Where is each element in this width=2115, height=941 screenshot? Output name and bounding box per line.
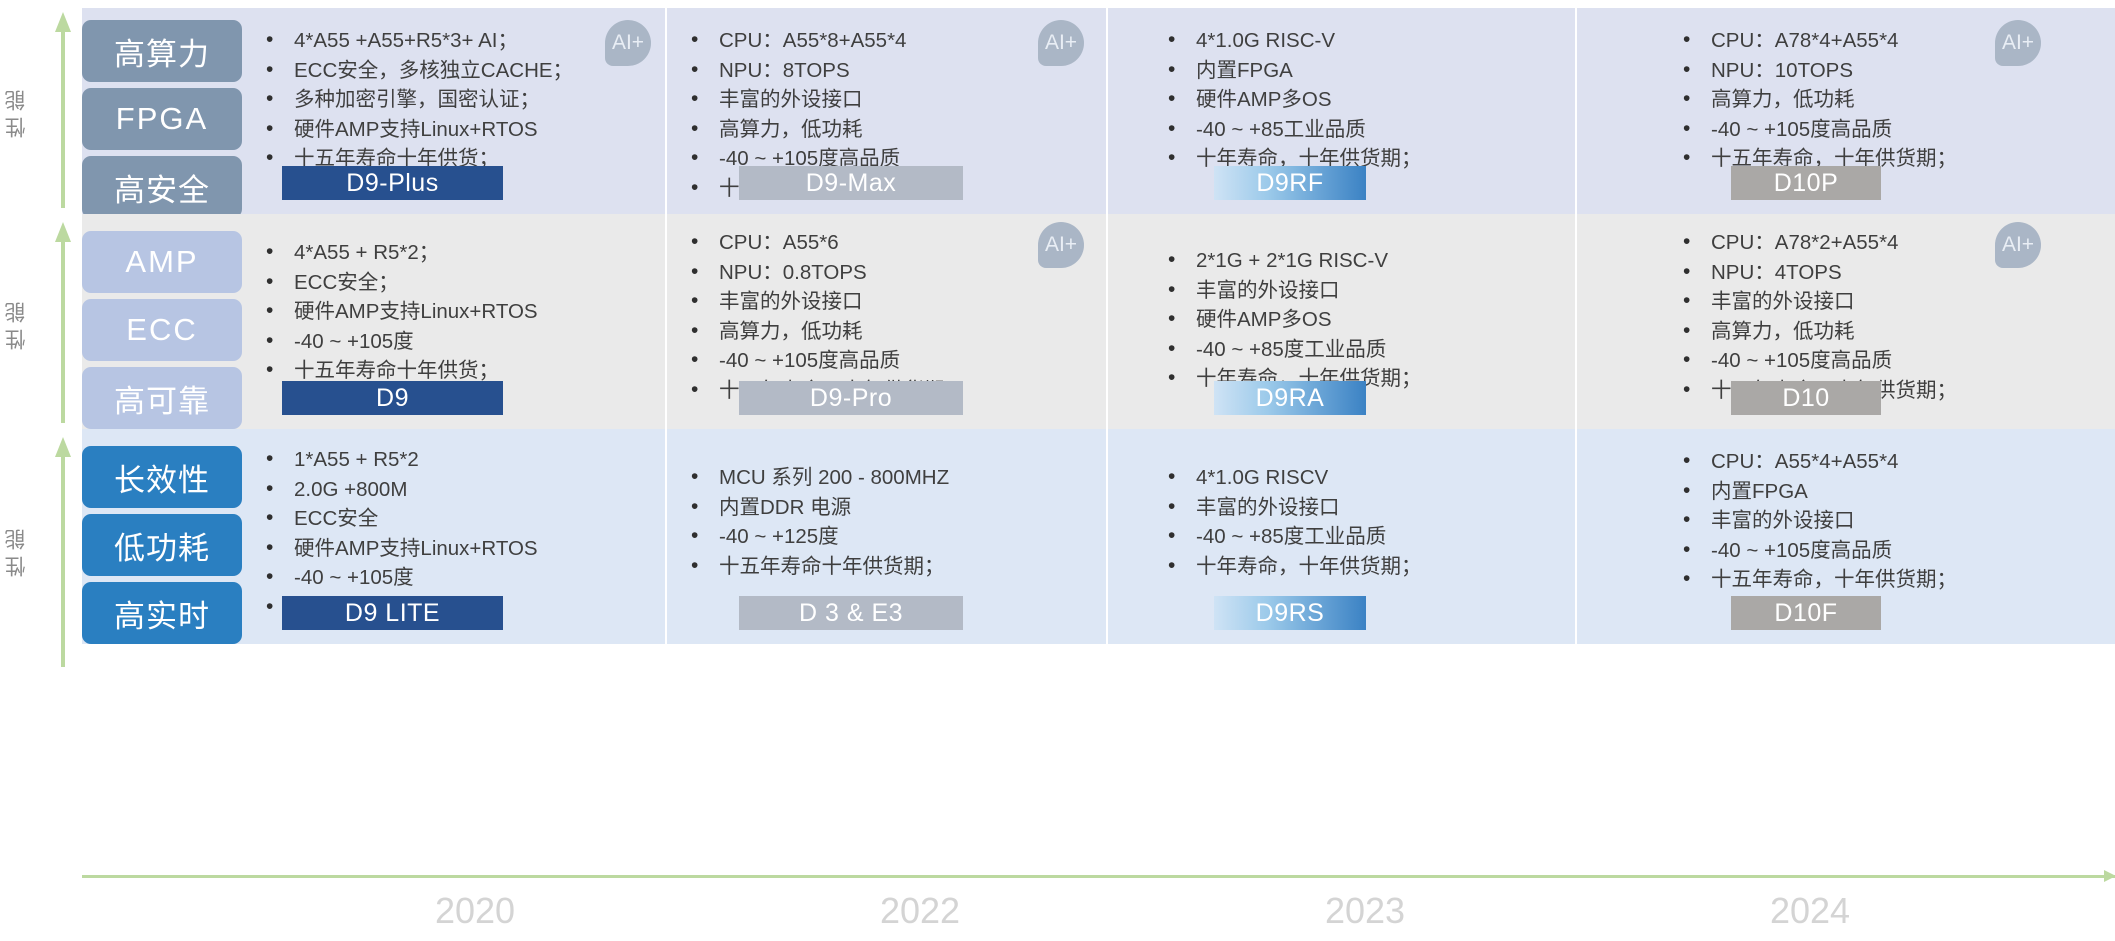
feature-item: -40 ~ +105度高品质 xyxy=(1677,115,2105,145)
pillar-tag[interactable]: 高实时 xyxy=(82,582,242,644)
pillar-label: FPGA xyxy=(116,101,208,137)
pillar-label: AMP xyxy=(125,244,198,280)
product-chip[interactable]: D9-Plus xyxy=(282,166,503,200)
feature-list: CPU：A78*2+A55*4 NPU：4TOPS 丰富的外设接口 高算力，低功… xyxy=(1677,228,2105,405)
up-arrow-icon xyxy=(52,8,74,214)
product-cell[interactable]: CPU：A55*4+A55*4 内置FPGA 丰富的外设接口 -40 ~ +10… xyxy=(1575,429,2115,644)
product-name: D9-Plus xyxy=(346,169,438,197)
pillar-column-row-2: AMP ECC 高可靠 xyxy=(82,214,242,429)
ai-plus-badge: AI+ xyxy=(1038,20,1084,66)
feature-item: 内置DDR 电源 xyxy=(685,493,1096,523)
product-cell[interactable]: MCU 系列 200 - 800MHZ 内置DDR 电源 -40 ~ +125度… xyxy=(665,429,1106,644)
feature-item: 硬件AMP支持Linux+RTOS xyxy=(260,297,655,327)
feature-item: 高算力，低功耗 xyxy=(1677,317,2105,347)
pillar-tag[interactable]: 高算力 xyxy=(82,20,242,82)
cells-row-1: 4*A55 +A55+R5*3+ AI； ECC安全，多核独立CACHE； 多种… xyxy=(242,8,2115,214)
tier-row-realtime: 长效性 低功耗 高实时 1*A55 + R5*2 2.0G +800M ECC安… xyxy=(82,429,2115,644)
product-chip[interactable]: D9RS xyxy=(1214,596,1366,630)
pillar-label: 高实时 xyxy=(114,591,210,636)
feature-item: 十年寿命，十年供货期； xyxy=(1162,552,1565,582)
feature-item: ECC安全 xyxy=(260,504,655,534)
feature-list: CPU：A55*6 NPU：0.8TOPS 丰富的外设接口 高算力，低功耗 -4… xyxy=(685,228,1096,405)
pillar-tag[interactable]: 低功耗 xyxy=(82,514,242,576)
feature-item: 高算力，低功耗 xyxy=(685,115,1096,145)
feature-list: MCU 系列 200 - 800MHZ 内置DDR 电源 -40 ~ +125度… xyxy=(685,463,1096,581)
timeline-year: 2022 xyxy=(855,890,985,932)
product-chip[interactable]: D10F xyxy=(1731,596,1881,630)
tier-row-reliability: AMP ECC 高可靠 4*A55 + R5*2； ECC安全； 硬件AMP支持… xyxy=(82,214,2115,429)
product-name: D9 LITE xyxy=(345,599,440,627)
product-name: D9RA xyxy=(1256,384,1325,412)
feature-item: 4*A55 +A55+R5*3+ AI； xyxy=(260,26,655,56)
feature-list: 4*A55 +A55+R5*3+ AI； ECC安全，多核独立CACHE； 多种… xyxy=(260,26,655,174)
feature-item: -40 ~ +125度 xyxy=(685,522,1096,552)
pillar-tag[interactable]: FPGA xyxy=(82,88,242,150)
pillar-tag[interactable]: 长效性 xyxy=(82,446,242,508)
feature-item: 硬件AMP多OS xyxy=(1162,305,1565,335)
feature-item: ECC安全； xyxy=(260,268,655,298)
feature-item: NPU：10TOPS xyxy=(1677,56,2105,86)
feature-item: 高算力，低功耗 xyxy=(685,317,1096,347)
timeline-arrow-icon xyxy=(82,875,2115,878)
feature-item: 硬件AMP支持Linux+RTOS xyxy=(260,534,655,564)
pillar-tag[interactable]: 高可靠 xyxy=(82,367,242,429)
product-cell[interactable]: CPU：A78*2+A55*4 NPU：4TOPS 丰富的外设接口 高算力，低功… xyxy=(1575,214,2115,429)
product-chip[interactable]: D10P xyxy=(1731,166,1881,200)
feature-item: 十五年寿命十年供货期； xyxy=(685,552,1096,582)
pillar-column-row-1: 高算力 FPGA 高安全 xyxy=(82,8,242,214)
product-cell[interactable]: CPU：A55*6 NPU：0.8TOPS 丰富的外设接口 高算力，低功耗 -4… xyxy=(665,214,1106,429)
pillar-column-row-3: 长效性 低功耗 高实时 xyxy=(82,429,242,644)
feature-item: 内置FPGA xyxy=(1162,56,1565,86)
feature-item: NPU：8TOPS xyxy=(685,56,1096,86)
feature-item: 丰富的外设接口 xyxy=(1162,276,1565,306)
feature-list: CPU：A78*4+A55*4 NPU：10TOPS 高算力，低功耗 -40 ~… xyxy=(1677,26,2105,174)
feature-list: 4*1.0G RISCV 丰富的外设接口 -40 ~ +85度工业品质 十年寿命… xyxy=(1162,463,1565,581)
product-name: D9 xyxy=(376,384,409,412)
feature-item: -40 ~ +105度高品质 xyxy=(1677,536,2105,566)
feature-item: -40 ~ +105度 xyxy=(260,327,655,357)
feature-item: NPU：0.8TOPS xyxy=(685,258,1096,288)
feature-item: -40 ~ +85度工业品质 xyxy=(1162,522,1565,552)
tier-row-high-performance: 高算力 FPGA 高安全 4*A55 +A55+R5*3+ AI； ECC安全，… xyxy=(82,8,2115,214)
ai-plus-badge: AI+ xyxy=(1038,222,1084,268)
product-name: D9-Pro xyxy=(810,384,892,412)
feature-item: 十五年寿命，十年供货期； xyxy=(1677,565,2105,595)
feature-item: 4*1.0G RISC-V xyxy=(1162,26,1565,56)
product-chip[interactable]: D9RA xyxy=(1214,381,1366,415)
ai-plus-badge: AI+ xyxy=(1995,222,2041,268)
cells-row-2: 4*A55 + R5*2； ECC安全； 硬件AMP支持Linux+RTOS -… xyxy=(242,214,2115,429)
product-name: D9RF xyxy=(1256,169,1323,197)
feature-item: CPU：A55*6 xyxy=(685,228,1096,258)
feature-item: 内置FPGA xyxy=(1677,477,2105,507)
ai-plus-label: AI+ xyxy=(2002,31,2034,55)
product-chip[interactable]: D9 xyxy=(282,381,503,415)
feature-item: NPU：4TOPS xyxy=(1677,258,2105,288)
feature-item: 高算力，低功耗 xyxy=(1677,85,2105,115)
product-cell[interactable]: CPU：A55*8+A55*4 NPU：8TOPS 丰富的外设接口 高算力，低功… xyxy=(665,8,1106,214)
feature-list: 2*1G + 2*1G RISC-V 丰富的外设接口 硬件AMP多OS -40 … xyxy=(1162,246,1565,394)
axis-label-row-3: 性能 xyxy=(6,499,50,601)
feature-item: 2.0G +800M xyxy=(260,475,655,505)
timeline-year: 2024 xyxy=(1745,890,1875,932)
product-name: D10 xyxy=(1782,384,1829,412)
product-cell[interactable]: 4*A55 +A55+R5*3+ AI； ECC安全，多核独立CACHE； 多种… xyxy=(242,8,665,214)
ai-plus-badge: AI+ xyxy=(605,20,651,66)
ai-plus-label: AI+ xyxy=(612,31,644,55)
product-roadmap-diagram: 性能 性能 性能 高算力 FPGA xyxy=(0,0,2115,941)
axis-cell-row-3: 性能 xyxy=(0,433,82,673)
feature-item: -40 ~ +105度高品质 xyxy=(1677,346,2105,376)
feature-list: 4*A55 + R5*2； ECC安全； 硬件AMP支持Linux+RTOS -… xyxy=(260,238,655,386)
timeline-year: 2023 xyxy=(1300,890,1430,932)
cells-row-3: 1*A55 + R5*2 2.0G +800M ECC安全 硬件AMP支持Lin… xyxy=(242,429,2115,644)
ai-plus-badge: AI+ xyxy=(1995,20,2041,66)
product-cell[interactable]: 4*A55 + R5*2； ECC安全； 硬件AMP支持Linux+RTOS -… xyxy=(242,214,665,429)
feature-item: -40 ~ +105度高品质 xyxy=(685,346,1096,376)
pillar-tag[interactable]: 高安全 xyxy=(82,156,242,218)
feature-item: 丰富的外设接口 xyxy=(1677,506,2105,536)
product-chip[interactable]: D9RF xyxy=(1214,166,1366,200)
up-arrow-icon xyxy=(52,433,74,673)
feature-item: CPU：A55*4+A55*4 xyxy=(1677,447,2105,477)
feature-item: 4*A55 + R5*2； xyxy=(260,238,655,268)
feature-item: 丰富的外设接口 xyxy=(685,85,1096,115)
product-chip[interactable]: D10 xyxy=(1731,381,1881,415)
product-chip[interactable]: D9-Max xyxy=(739,166,963,200)
feature-item: 4*1.0G RISCV xyxy=(1162,463,1565,493)
performance-axis-column: 性能 性能 性能 xyxy=(0,0,82,860)
feature-item: 丰富的外设接口 xyxy=(1677,287,2105,317)
feature-list: 4*1.0G RISC-V 内置FPGA 硬件AMP多OS -40 ~ +85工… xyxy=(1162,26,1565,174)
axis-label-row-2: 性能 xyxy=(6,272,50,374)
axis-cell-row-2: 性能 xyxy=(0,218,82,429)
feature-item: ECC安全，多核独立CACHE； xyxy=(260,56,655,86)
product-name: D10P xyxy=(1774,169,1839,197)
feature-item: MCU 系列 200 - 800MHZ xyxy=(685,463,1096,493)
pillar-label: 高可靠 xyxy=(114,376,210,421)
product-cell[interactable]: 2*1G + 2*1G RISC-V 丰富的外设接口 硬件AMP多OS -40 … xyxy=(1106,214,1575,429)
product-name: D9-Max xyxy=(806,169,897,197)
product-chip[interactable]: D 3 & E3 xyxy=(739,596,963,630)
feature-item: 丰富的外设接口 xyxy=(685,287,1096,317)
feature-item: -40 ~ +85度工业品质 xyxy=(1162,335,1565,365)
timeline-year: 2020 xyxy=(410,890,540,932)
product-name: D 3 & E3 xyxy=(799,599,903,627)
ai-plus-label: AI+ xyxy=(2002,233,2034,257)
product-name: D10F xyxy=(1774,599,1837,627)
pillar-label: 长效性 xyxy=(114,455,210,500)
feature-item: 硬件AMP多OS xyxy=(1162,85,1565,115)
pillar-tag[interactable]: ECC xyxy=(82,299,242,361)
feature-item: 丰富的外设接口 xyxy=(1162,493,1565,523)
product-cell[interactable]: 4*1.0G RISC-V 内置FPGA 硬件AMP多OS -40 ~ +85工… xyxy=(1106,8,1575,214)
pillar-label: ECC xyxy=(126,312,197,348)
product-cell[interactable]: CPU：A78*4+A55*4 NPU：10TOPS 高算力，低功耗 -40 ~… xyxy=(1575,8,2115,214)
feature-list: CPU：A55*4+A55*4 内置FPGA 丰富的外设接口 -40 ~ +10… xyxy=(1677,447,2105,595)
axis-cell-row-1: 性能 xyxy=(0,8,82,214)
feature-item: 1*A55 + R5*2 xyxy=(260,445,655,475)
feature-item: 2*1G + 2*1G RISC-V xyxy=(1162,246,1565,276)
product-chip[interactable]: D9-Pro xyxy=(739,381,963,415)
pillar-label: 高算力 xyxy=(114,29,210,74)
pillar-tag[interactable]: AMP xyxy=(82,231,242,293)
pillar-label: 低功耗 xyxy=(114,523,210,568)
product-chip[interactable]: D9 LITE xyxy=(282,596,503,630)
product-cell[interactable]: 1*A55 + R5*2 2.0G +800M ECC安全 硬件AMP支持Lin… xyxy=(242,429,665,644)
feature-item: -40 ~ +105度 xyxy=(260,563,655,593)
ai-plus-label: AI+ xyxy=(1045,31,1077,55)
up-arrow-icon xyxy=(52,218,74,429)
feature-item: -40 ~ +85工业品质 xyxy=(1162,115,1565,145)
product-cell[interactable]: 4*1.0G RISCV 丰富的外设接口 -40 ~ +85度工业品质 十年寿命… xyxy=(1106,429,1575,644)
axis-label-row-1: 性能 xyxy=(6,60,50,162)
feature-item: 多种加密引擎，国密认证； xyxy=(260,85,655,115)
feature-item: 硬件AMP支持Linux+RTOS xyxy=(260,115,655,145)
pillar-label: 高安全 xyxy=(114,165,210,210)
ai-plus-label: AI+ xyxy=(1045,233,1077,257)
feature-item: CPU：A55*8+A55*4 xyxy=(685,26,1096,56)
product-name: D9RS xyxy=(1256,599,1325,627)
